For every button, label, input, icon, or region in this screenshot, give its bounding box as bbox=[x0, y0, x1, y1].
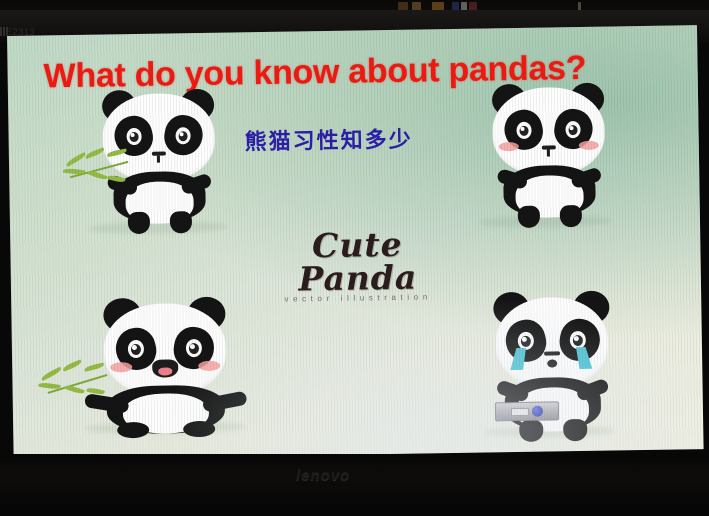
panda-eye-glint-right bbox=[190, 344, 195, 349]
panda-eye-glint-left bbox=[132, 345, 137, 350]
panda-nose bbox=[544, 351, 560, 355]
monitor-bottom-bezel bbox=[0, 454, 709, 516]
cute-panda-logo: Cute Panda vector illustration bbox=[257, 227, 458, 304]
bamboo-sprig-top-left bbox=[61, 142, 142, 195]
bamboo-leaf bbox=[107, 148, 128, 157]
panda-leg-left bbox=[128, 212, 150, 234]
bamboo-leaf bbox=[85, 147, 105, 159]
panda-leg-right bbox=[170, 211, 192, 233]
bamboo-leaf bbox=[86, 387, 105, 396]
widget-bar-icon bbox=[511, 407, 529, 415]
panda-mouth bbox=[157, 156, 160, 163]
monitor-photo: E2313 What do you know about pandas? 熊猫习… bbox=[0, 0, 709, 516]
screen-panel: What do you know about pandas? 熊猫习性知多少 C… bbox=[7, 25, 704, 460]
panda-eye-glint-right bbox=[180, 132, 184, 136]
bamboo-sprig-bottom-left bbox=[36, 352, 121, 407]
bamboo-leaf bbox=[65, 152, 87, 167]
bamboo-leaf bbox=[84, 363, 105, 372]
bamboo-leaf bbox=[107, 174, 126, 184]
brand-logo: lenovo bbox=[296, 467, 350, 484]
panda-leg-left bbox=[519, 420, 543, 442]
bamboo-leaf bbox=[40, 367, 62, 381]
widget-blue-icon[interactable] bbox=[532, 406, 543, 417]
logo-main-text: Cute Panda bbox=[257, 227, 458, 296]
panda-leg-right bbox=[183, 421, 215, 438]
panda-leg-left bbox=[117, 422, 149, 439]
panda-eye-glint-right bbox=[574, 336, 579, 341]
logo-sub-text: vector illustration bbox=[258, 292, 458, 304]
panda-leg-right bbox=[563, 419, 587, 441]
overlay-widget[interactable] bbox=[495, 401, 559, 421]
panda-eye-glint-left bbox=[131, 133, 135, 137]
panda-eye-glint-right bbox=[569, 126, 573, 130]
panda-top-right bbox=[476, 78, 623, 225]
slide-subtitle: 熊猫习性知多少 bbox=[244, 122, 412, 157]
bamboo-leaf bbox=[62, 359, 82, 371]
panda-leg-right bbox=[560, 205, 582, 227]
panda-eye-glint-left bbox=[522, 337, 527, 342]
panda-leg-left bbox=[518, 206, 540, 228]
panda-mouth bbox=[547, 149, 550, 156]
panda-eye-glint-left bbox=[520, 127, 524, 131]
